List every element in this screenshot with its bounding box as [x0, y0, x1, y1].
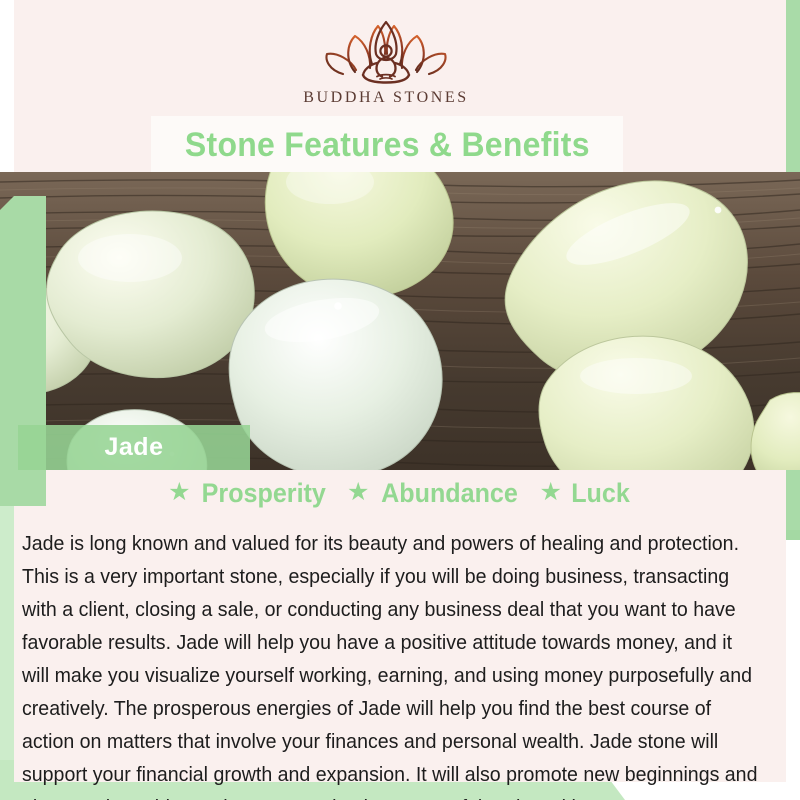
title-banner: Stone Features & Benefits [151, 116, 623, 174]
stone-description: Jade is long known and valued for its be… [22, 528, 761, 800]
benefit-item: ★ Luck [539, 478, 631, 509]
benefit-label: Abundance [382, 478, 519, 509]
benefits-row: ★ Prosperity ★ Abundance ★ Luck [14, 478, 786, 509]
star-icon: ★ [347, 480, 369, 505]
stone-info-poster: BUDDHA STONES Stone Features & Benefits [0, 0, 800, 800]
benefit-item: ★ Prosperity [168, 478, 331, 509]
benefit-label: Prosperity [202, 478, 326, 509]
page-title: Stone Features & Benefits [185, 126, 590, 165]
stone-name: Jade [105, 433, 164, 462]
stone-name-band: Jade [18, 425, 250, 470]
benefit-label: Luck [571, 478, 630, 509]
brand-wordmark: BUDDHA STONES [303, 89, 469, 107]
lotus-meditation-icon [325, 18, 447, 84]
benefit-item: ★ Abundance [347, 478, 523, 509]
star-icon: ★ [168, 480, 190, 505]
star-icon: ★ [539, 480, 561, 505]
brand-logo-block: BUDDHA STONES [0, 18, 772, 128]
